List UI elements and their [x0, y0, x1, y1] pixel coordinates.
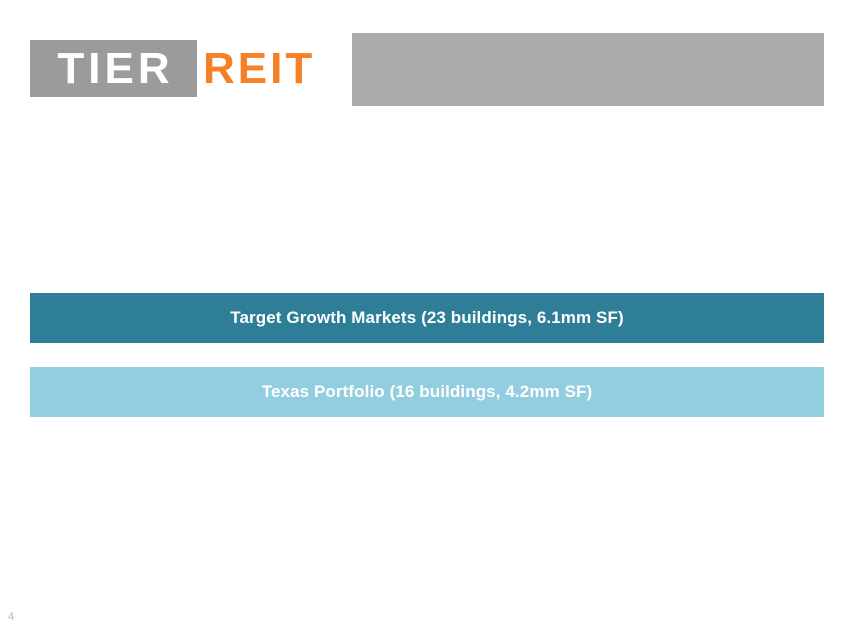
slide-header: TIER REIT: [30, 33, 824, 106]
slide-canvas: TIER REIT Target Growth Markets (23 buil…: [0, 0, 847, 635]
header-banner-bar: [352, 33, 824, 106]
logo-tier-wordmark: TIER: [30, 40, 197, 97]
portfolio-bar-target-growth-markets: Target Growth Markets (23 buildings, 6.1…: [30, 293, 824, 343]
portfolio-bar-label: Texas Portfolio (16 buildings, 4.2mm SF): [262, 383, 593, 402]
portfolio-bar-texas-portfolio: Texas Portfolio (16 buildings, 4.2mm SF): [30, 367, 824, 417]
portfolio-bar-label: Target Growth Markets (23 buildings, 6.1…: [230, 309, 623, 328]
logo-reit-wordmark: REIT: [203, 40, 315, 97]
page-number: 4: [8, 612, 14, 623]
